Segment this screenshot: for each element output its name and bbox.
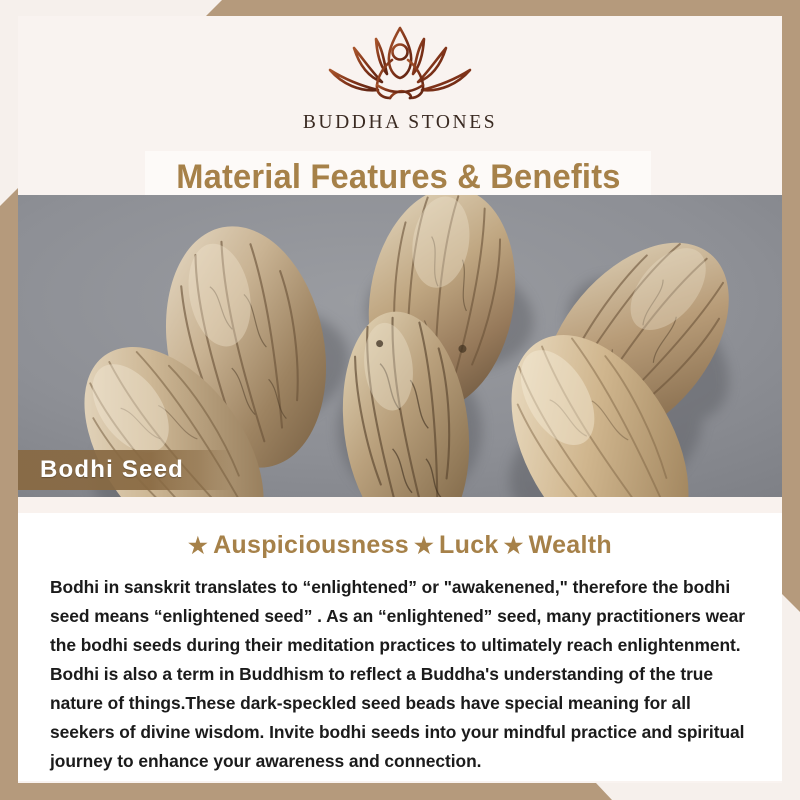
brand-name: BUDDHA STONES <box>303 112 497 134</box>
benefit-item-wealth: Wealth <box>529 531 612 559</box>
content-panel: ★Auspiciousness★Luck★Wealth Bodhi in san… <box>18 513 782 781</box>
photo-caption-band: Bodhi Seed <box>18 450 233 490</box>
star-icon-3: ★ <box>504 533 524 558</box>
photo-caption-label: Bodhi Seed <box>40 456 184 484</box>
frame-accent-top <box>0 0 800 16</box>
poster: BUDDHA STONES Material Features & Benefi… <box>0 0 800 800</box>
benefit-item-auspiciousness: Auspiciousness <box>213 531 409 559</box>
page-title: Material Features & Benefits <box>176 158 620 197</box>
benefits-row: ★Auspiciousness★Luck★Wealth <box>44 531 756 560</box>
frame-accent-left <box>0 188 18 800</box>
description-text: Bodhi in sanskrit translates to “enlight… <box>44 573 756 776</box>
photo-content-divider <box>18 497 782 513</box>
poster-inner: BUDDHA STONES Material Features & Benefi… <box>18 16 782 783</box>
frame-accent-bottom <box>0 783 800 800</box>
lotus-meditation-logo-icon <box>314 22 486 108</box>
product-photo: Bodhi Seed <box>18 195 782 497</box>
frame-accent-right <box>782 0 800 612</box>
star-icon-1: ★ <box>188 533 208 558</box>
brand-logo: BUDDHA STONES <box>18 22 782 150</box>
star-icon-2: ★ <box>414 533 434 558</box>
benefit-item-luck: Luck <box>439 531 499 559</box>
